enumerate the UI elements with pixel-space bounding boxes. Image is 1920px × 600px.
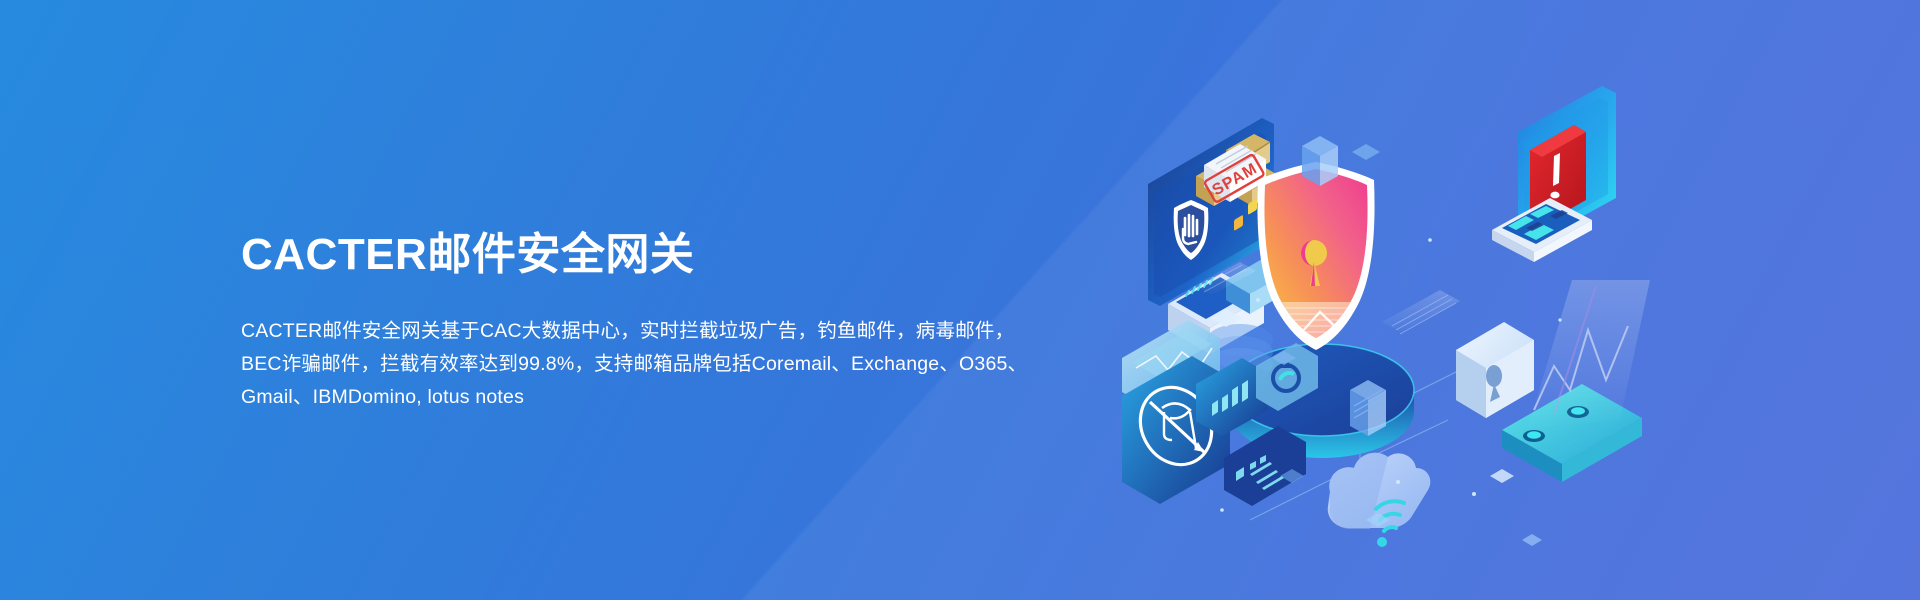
- page-title: CACTER邮件安全网关: [241, 230, 1121, 281]
- cloud-wifi: [1328, 453, 1431, 547]
- description-line-2: BEC诈骗邮件，拦截有效率达到99.8%，支持邮箱品牌包括Coremail、Ex…: [241, 348, 1121, 381]
- cube-tall-1: [1302, 136, 1338, 186]
- alert-monitor: [1492, 86, 1616, 262]
- description-line-3: Gmail、IBMDomino, lotus notes: [241, 381, 1121, 414]
- cube-tall-2: [1350, 380, 1386, 436]
- tablet-projection: [1528, 280, 1650, 428]
- hero-copy: CACTER邮件安全网关 CACTER邮件安全网关基于CAC大数据中心，实时拦截…: [241, 230, 1121, 414]
- hero-illustration: SPAM: [1130, 90, 1630, 570]
- hero-banner: CACTER邮件安全网关 CACTER邮件安全网关基于CAC大数据中心，实时拦截…: [0, 0, 1920, 600]
- description-line-1: CACTER邮件安全网关基于CAC大数据中心，实时拦截垃圾广告，钓鱼邮件，病毒邮…: [241, 315, 1121, 348]
- padlock-icon: [1456, 322, 1534, 418]
- tile-5: [1490, 469, 1514, 483]
- hero-description: CACTER邮件安全网关基于CAC大数据中心，实时拦截垃圾广告，钓鱼邮件，病毒邮…: [241, 315, 1121, 414]
- tile-7: [1352, 144, 1380, 160]
- tile-6: [1522, 534, 1542, 546]
- central-security-shield: [1257, 162, 1380, 352]
